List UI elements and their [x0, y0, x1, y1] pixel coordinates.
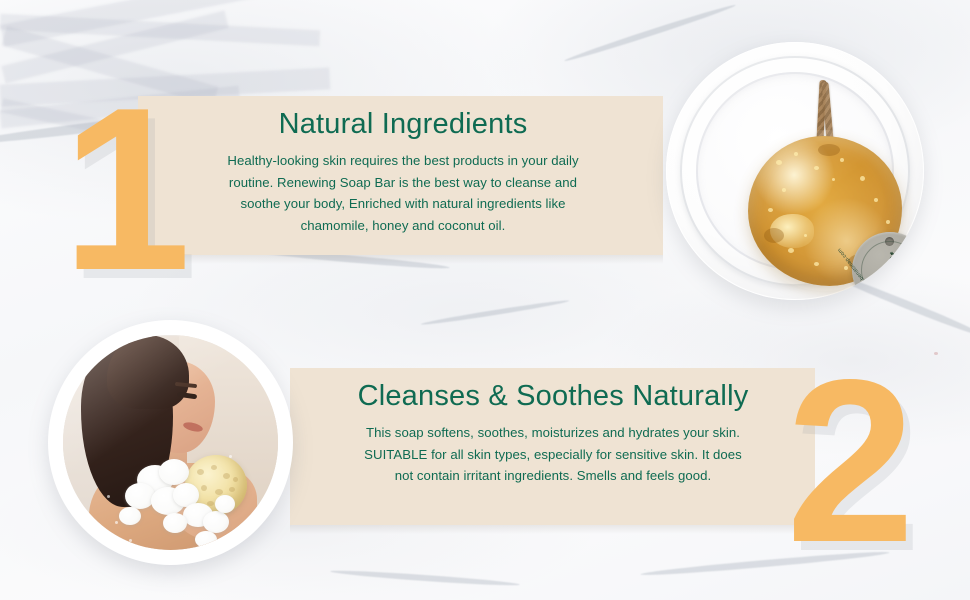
section-2-body-line: This soap softens, soothes, moisturizes …	[318, 422, 788, 444]
section-1-body: Healthy-looking skin requires the best p…	[168, 150, 638, 236]
section-2-body-line: not contain irritant ingredients. Smells…	[318, 465, 788, 487]
section-1-heading: Natural Ingredients	[168, 108, 638, 141]
soap-hang-tag: Renewing Soap Bar www.benatsoap.com BeNa…	[852, 232, 924, 300]
section-1-text-block: Natural Ingredients Healthy-looking skin…	[168, 108, 638, 236]
plate-inner-ring: Renewing Soap Bar www.benatsoap.com BeNa…	[696, 72, 894, 270]
section-1-body-line: chamomile, honey and coconut oil.	[168, 215, 638, 237]
soap-bar-photo: Renewing Soap Bar www.benatsoap.com BeNa…	[666, 42, 924, 300]
shower-photo	[48, 320, 293, 565]
section-1-body-line: routine. Renewing Soap Bar is the best w…	[168, 172, 638, 194]
section-2-heading: Cleanses & Soothes Naturally	[318, 380, 788, 413]
section-2-body: This soap softens, soothes, moisturizes …	[318, 422, 788, 487]
section-1-body-line: soothe your body, Enriched with natural …	[168, 193, 638, 215]
section-2-body-line: SUITABLE for all skin types, especially …	[318, 444, 788, 466]
section-1-body-line: Healthy-looking skin requires the best p…	[168, 150, 638, 172]
woman-hair-top	[107, 335, 189, 409]
section-2-text-block: Cleanses & Soothes Naturally This soap s…	[318, 380, 788, 487]
section-2-numeral: 2	[786, 346, 911, 578]
shower-photo-inner	[63, 335, 278, 550]
soap-bar: Renewing Soap Bar www.benatsoap.com BeNa…	[748, 136, 902, 286]
